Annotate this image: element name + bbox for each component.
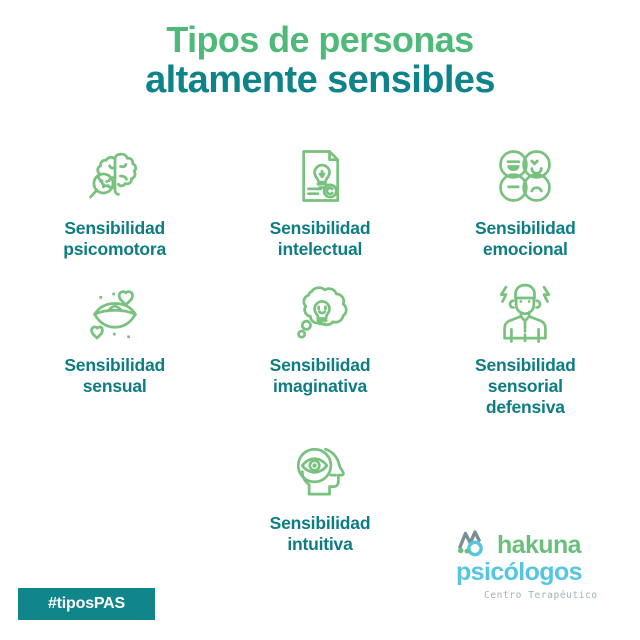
title-line-1: Tipos de personas [0, 22, 640, 59]
logo-word-hakuna: hakuna [497, 533, 581, 558]
person-lightning-bolts-icon [489, 277, 561, 349]
list-item-imaginativa: Sensibilidad imaginativa [217, 277, 422, 417]
logo-tagline: Centro Terapéutico [484, 590, 622, 601]
document-lightbulb-copyright-icon [284, 140, 356, 212]
logo-top-row: hakuna [454, 528, 622, 558]
list-item-emocional: Sensibilidad emocional [423, 140, 628, 259]
hashtag-label: #tiposPAS [48, 595, 125, 613]
grid-spacer [12, 427, 217, 554]
list-item-label: Sensibilidad psicomotora [63, 218, 166, 259]
brand-logo[interactable]: hakuna psicólogos Centro Terapéutico [454, 528, 622, 601]
list-item-psicomotora: Sensibilidad psicomotora [12, 140, 217, 259]
list-item-label: Sensibilidad intelectual [270, 218, 371, 259]
list-item-label: Sensibilidad imaginativa [270, 355, 371, 396]
list-item-intelectual: Sensibilidad intelectual [217, 140, 422, 259]
list-item-sensorial-defensiva: Sensibilidad sensorial defensiva [423, 277, 628, 417]
list-item-sensual: Sensibilidad sensual [12, 277, 217, 417]
infographic-poster: Tipos de personas altamente sensibles [0, 0, 640, 640]
thought-bubble-lightbulb-icon [284, 277, 356, 349]
list-item-label: Sensibilidad intuitiva [270, 513, 371, 554]
hakuna-logo-mark [454, 528, 496, 558]
logo-word-psicologos: psicólogos [456, 560, 622, 585]
brain-magnifier-icon [79, 140, 151, 212]
list-item-label: Sensibilidad sensual [64, 355, 165, 396]
sensitivity-types-grid: Sensibilidad psicomotora [12, 140, 628, 554]
list-item-intuitiva: Sensibilidad intuitiva [217, 435, 422, 554]
lips-hearts-icon [79, 277, 151, 349]
list-item-label: Sensibilidad emocional [475, 218, 576, 259]
head-third-eye-icon [284, 435, 356, 507]
list-item-label: Sensibilidad sensorial defensiva [475, 355, 576, 417]
four-emotion-faces-icon [489, 140, 561, 212]
title-line-2: altamente sensibles [0, 61, 640, 100]
page-title: Tipos de personas altamente sensibles [0, 22, 640, 99]
hashtag-badge[interactable]: #tiposPAS [18, 588, 155, 620]
